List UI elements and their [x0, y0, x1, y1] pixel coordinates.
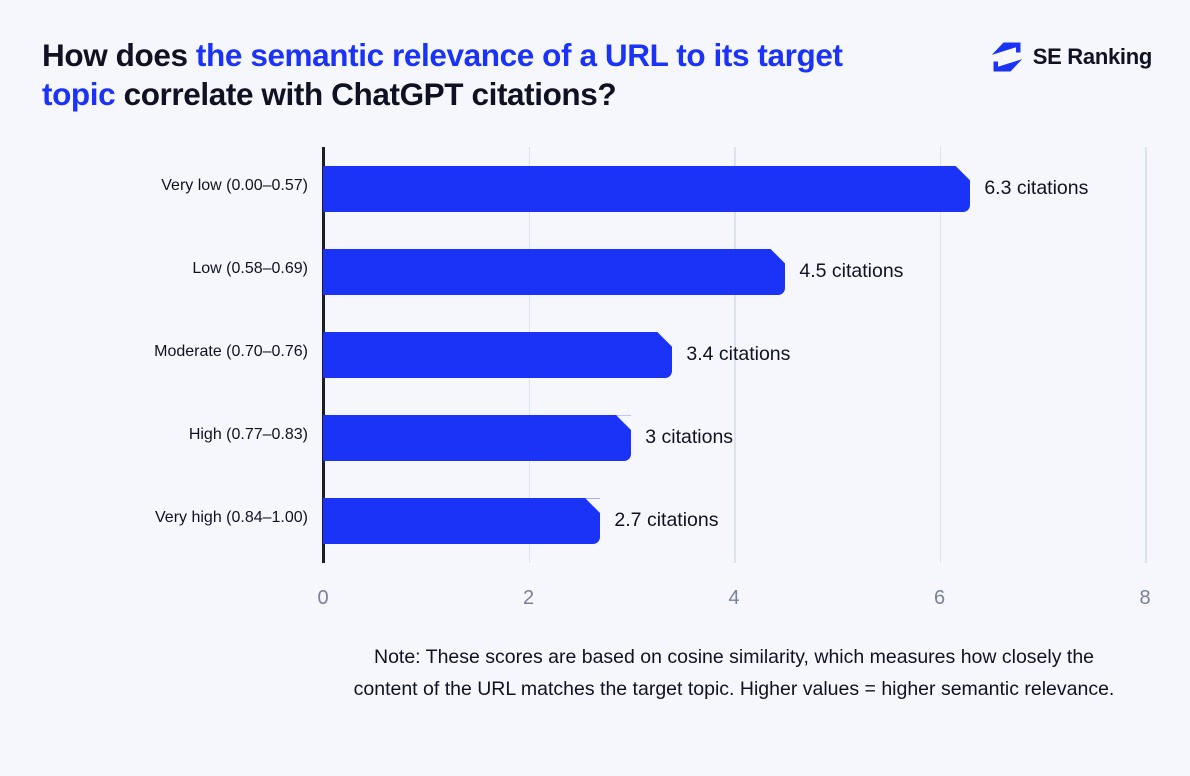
title-segment-plain-1: How does — [42, 37, 196, 73]
bar — [323, 166, 970, 212]
y-axis-label: Moderate (0.70–0.76) — [40, 343, 308, 361]
x-axis-tick: 2 — [509, 587, 549, 610]
lightning-bolt-icon — [990, 40, 1024, 74]
bar — [323, 249, 785, 295]
page-title: How does the semantic relevance of a URL… — [42, 36, 922, 114]
gridline — [940, 147, 942, 563]
y-axis-label: Very low (0.00–0.57) — [40, 177, 308, 195]
brand-logo: SE Ranking — [990, 38, 1152, 76]
x-axis-tick: 8 — [1125, 587, 1165, 610]
x-axis-tick: 4 — [714, 587, 754, 610]
x-axis-tick: 0 — [303, 587, 343, 610]
bar-value-label: 3 citations — [645, 426, 733, 449]
y-axis-label: Low (0.58–0.69) — [40, 260, 308, 278]
brand-name: SE Ranking — [1033, 44, 1152, 70]
bar — [323, 498, 600, 544]
title-segment-plain-2: correlate with ChatGPT citations? — [115, 76, 616, 112]
bar-value-label: 3.4 citations — [686, 343, 790, 366]
y-axis-label: Very high (0.84–1.00) — [40, 509, 308, 527]
gridline — [734, 147, 736, 563]
y-axis-label: High (0.77–0.83) — [40, 426, 308, 444]
chart-note: Note: These scores are based on cosine s… — [345, 641, 1123, 705]
bar-value-label: 4.5 citations — [799, 260, 903, 283]
gridline — [1145, 147, 1147, 563]
gridline — [529, 147, 531, 563]
x-axis-tick: 6 — [920, 587, 960, 610]
y-axis-line — [322, 147, 325, 563]
chart-header: How does the semantic relevance of a URL… — [0, 0, 1190, 130]
bar — [323, 332, 672, 378]
bar-value-label: 2.7 citations — [614, 509, 718, 532]
bar-value-label: 6.3 citations — [984, 177, 1088, 200]
bar — [323, 415, 631, 461]
